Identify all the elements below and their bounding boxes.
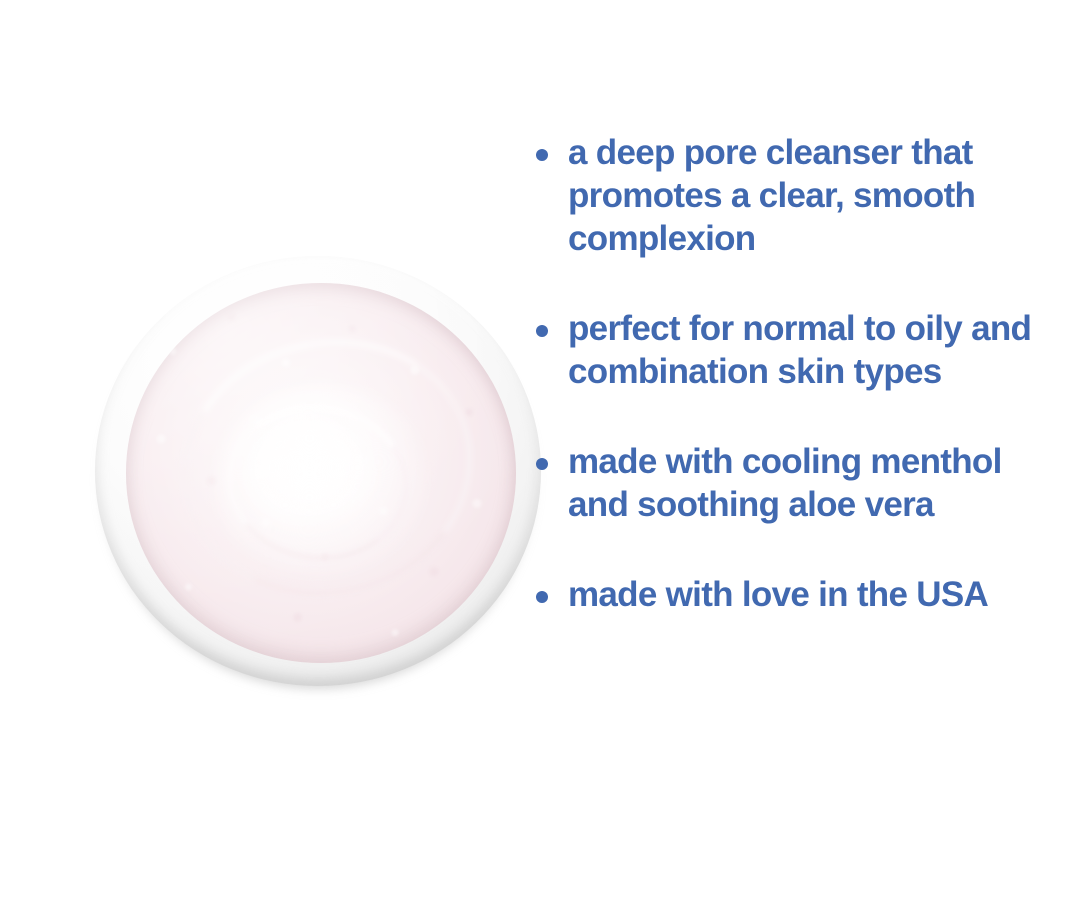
powder-fill [126, 283, 516, 663]
benefit-item: made with cooling menthol and soothing a… [531, 440, 1069, 526]
product-feature-graphic: a deep pore cleanser that promotes a cle… [0, 0, 1069, 913]
benefit-item: a deep pore cleanser that promotes a cle… [531, 131, 1069, 260]
benefit-text: a deep pore cleanser that promotes a cle… [568, 131, 1069, 260]
bullet-point-icon [536, 149, 548, 161]
benefit-item: perfect for normal to oily and combinati… [531, 307, 1069, 393]
benefit-text: made with love in the USA [568, 573, 1069, 616]
benefit-item: made with love in the USA [531, 573, 1069, 616]
powder-peak-highlight [243, 420, 376, 526]
jar-rim [95, 256, 541, 686]
bullet-point-icon [536, 325, 548, 337]
benefit-text: perfect for normal to oily and combinati… [568, 307, 1069, 393]
product-image [92, 253, 544, 691]
bullet-point-icon [536, 458, 548, 470]
benefit-text: made with cooling menthol and soothing a… [568, 440, 1069, 526]
bullet-point-icon [536, 591, 548, 603]
benefits-list: a deep pore cleanser that promotes a cle… [531, 131, 1069, 616]
